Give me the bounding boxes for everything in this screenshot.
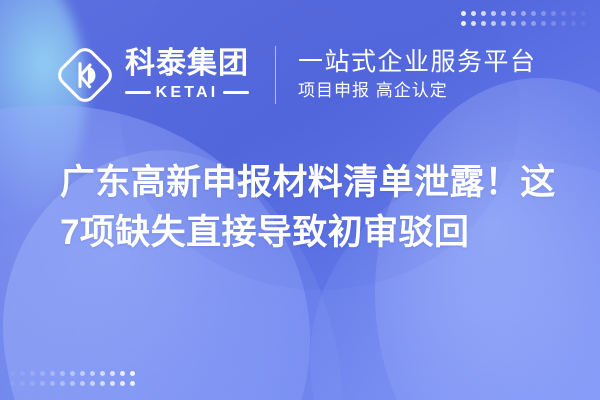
dot (130, 381, 135, 386)
wordmark-rule-right (223, 91, 249, 94)
brand-name-en-row: KETAI (125, 84, 249, 102)
dot (50, 381, 55, 386)
dot (461, 21, 466, 26)
dot (551, 21, 556, 26)
dot (461, 11, 466, 16)
headline-text: 广东高新申报材料清单泄露！这7项缺失直接导致初审驳回 (60, 158, 556, 257)
dot (110, 371, 115, 376)
dot-row (461, 11, 586, 16)
dot (80, 371, 85, 376)
dot (70, 371, 75, 376)
dot (571, 11, 576, 16)
dot (60, 381, 65, 386)
dot (20, 381, 25, 386)
dot (491, 21, 496, 26)
dot (20, 371, 25, 376)
dot (80, 381, 85, 386)
dot (90, 381, 95, 386)
dot (30, 381, 35, 386)
brand-name-cn: 科泰集团 (125, 48, 249, 80)
dot (501, 21, 506, 26)
ketai-diamond-monogram-icon (56, 46, 114, 104)
dot-row (10, 381, 135, 386)
dot (581, 11, 586, 16)
dot (561, 21, 566, 26)
dot (551, 11, 556, 16)
dot (100, 381, 105, 386)
dot (70, 381, 75, 386)
dot (541, 11, 546, 16)
dot-grid-bottom-left (10, 371, 135, 386)
dot (581, 21, 586, 26)
dot (521, 11, 526, 16)
dot (40, 381, 45, 386)
dot (120, 371, 125, 376)
dot (501, 11, 506, 16)
dot (571, 21, 576, 26)
dot (561, 11, 566, 16)
brand-wordmark: 科泰集团 KETAI (125, 48, 249, 102)
dot (511, 21, 516, 26)
tagline-secondary: 项目申报 高企认定 (298, 82, 537, 101)
dot (130, 371, 135, 376)
dot (120, 381, 125, 386)
dot-grid-top-right (461, 11, 586, 26)
brand-name-en: KETAI (156, 84, 219, 102)
dot (10, 381, 15, 386)
dot (471, 11, 476, 16)
brand-tagline: 一站式企业服务平台 项目申报 高企认定 (298, 49, 537, 100)
dot (60, 371, 65, 376)
dot (471, 21, 476, 26)
dot (110, 381, 115, 386)
dot (491, 11, 496, 16)
dot (100, 371, 105, 376)
dot (481, 21, 486, 26)
promo-banner: 科泰集团 KETAI 一站式企业服务平台 项目申报 高企认定 广东高新申报材料清… (0, 0, 600, 400)
dot (531, 11, 536, 16)
banner-header: 科泰集团 KETAI 一站式企业服务平台 项目申报 高企认定 (56, 42, 537, 108)
dot (10, 371, 15, 376)
header-divider (275, 46, 276, 104)
dot (90, 371, 95, 376)
dot (50, 371, 55, 376)
dot (541, 21, 546, 26)
brand-logo[interactable]: 科泰集团 KETAI (56, 46, 249, 104)
dot (481, 11, 486, 16)
dot-row (461, 21, 586, 26)
dot (531, 21, 536, 26)
dot (521, 21, 526, 26)
dot (40, 371, 45, 376)
dot (30, 371, 35, 376)
dot-row (10, 371, 135, 376)
tagline-primary: 一站式企业服务平台 (298, 49, 537, 77)
wordmark-rule-left (125, 91, 151, 94)
dot (511, 11, 516, 16)
